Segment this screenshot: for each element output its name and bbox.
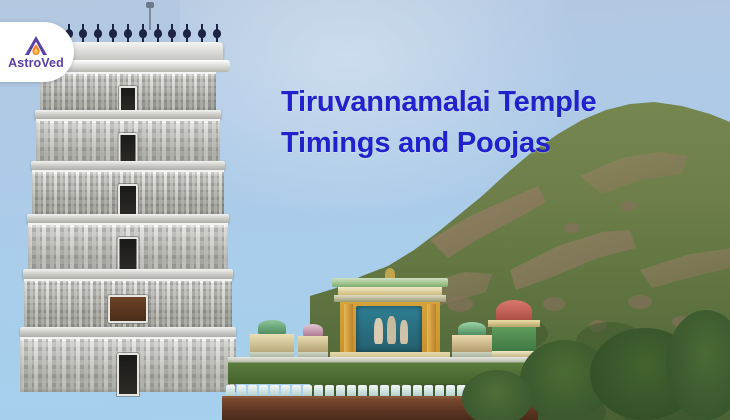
shrine-dome xyxy=(458,322,486,335)
gopuram-roof-cream xyxy=(338,287,442,295)
gopuram-entrance xyxy=(117,353,139,396)
gopuram-tier xyxy=(32,170,224,218)
shrine-body xyxy=(250,334,294,352)
gopuram-cornice xyxy=(23,269,233,279)
gopuram-tier xyxy=(24,279,232,331)
title-line-1: Tiruvannamalai Temple xyxy=(281,82,641,123)
gopuram-pillar xyxy=(427,304,436,354)
coloured-gopuram xyxy=(330,278,450,364)
shrine-body xyxy=(492,327,536,351)
shrine-body xyxy=(298,336,328,352)
shrine-dome xyxy=(258,320,286,334)
title-line-2: Timings and Poojas xyxy=(281,123,641,164)
gopuram-tier xyxy=(20,337,236,392)
tree-foliage xyxy=(462,370,532,420)
astroved-wordmark: AstroVed xyxy=(8,57,64,70)
gopuram-cornice xyxy=(31,161,225,170)
deity-figure xyxy=(374,318,383,344)
gopuram-roof-green xyxy=(332,278,448,287)
promo-banner: Tiruvannamalai Temple Timings and Poojas… xyxy=(0,0,730,420)
astroved-flame-icon xyxy=(23,35,49,56)
shrine-dome xyxy=(303,324,323,336)
wall-shrine-right xyxy=(452,322,492,360)
shrine-body xyxy=(452,335,492,352)
deity-figure xyxy=(400,320,408,344)
banner-title: Tiruvannamalai Temple Timings and Poojas xyxy=(281,82,641,164)
gopuram-pillar xyxy=(344,304,353,354)
shrine-dome xyxy=(496,300,532,322)
gopuram-tier xyxy=(28,223,228,273)
gopuram-window xyxy=(108,295,148,323)
wall-shrine-mid xyxy=(298,324,328,360)
gopuram-roof-band xyxy=(334,295,446,302)
gopuram-cornice xyxy=(35,110,221,119)
gopuram-cornice xyxy=(27,214,229,223)
wall-shrine-left xyxy=(250,320,294,360)
gopuram-tier xyxy=(36,119,220,165)
gopuram-tier xyxy=(40,72,216,114)
deity-figure xyxy=(387,316,396,344)
shrine-cornice xyxy=(488,320,540,327)
side-shrine xyxy=(488,300,540,358)
astroved-logo[interactable]: AstroVed xyxy=(0,22,74,82)
gopuram-cornice xyxy=(20,327,236,337)
